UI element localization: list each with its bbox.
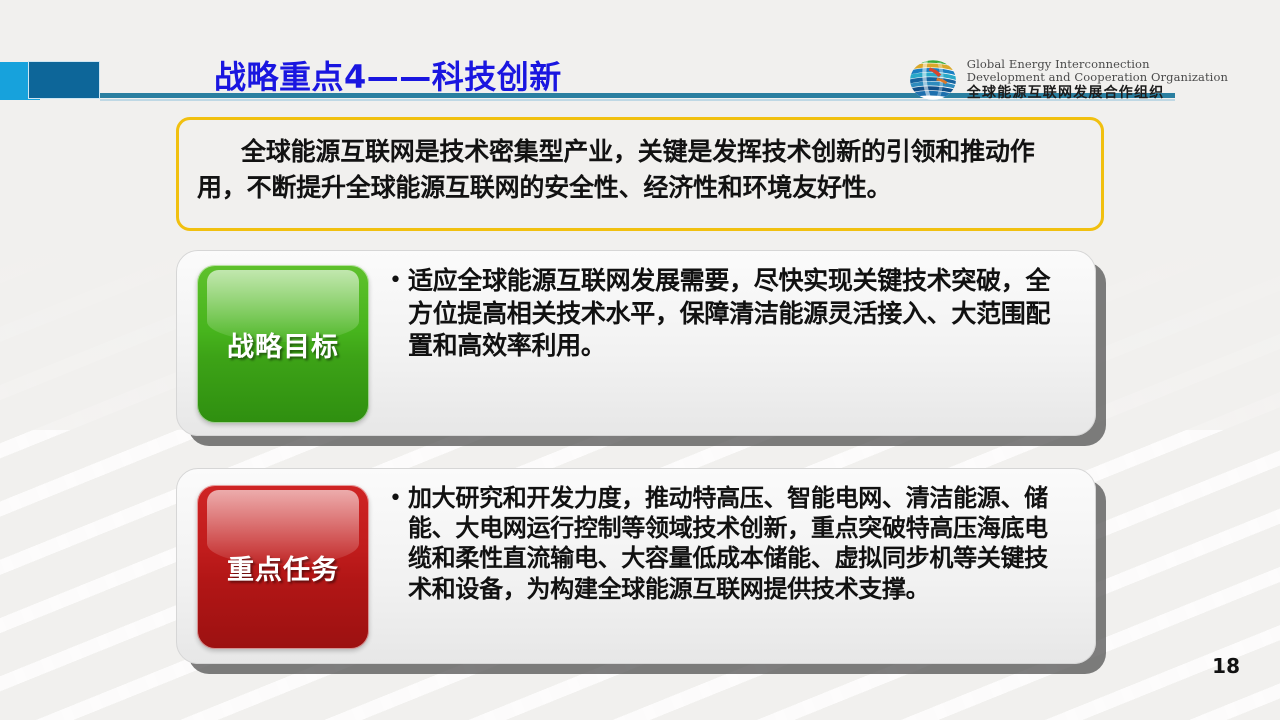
logo-line-cn: 全球能源互联网发展合作组织: [967, 86, 1228, 102]
globe-icon: [907, 54, 959, 106]
intro-callout-text: 全球能源互联网是技术密集型产业，关键是发挥技术创新的引领和推动作用，不断提升全球…: [197, 134, 1079, 205]
organization-logo: Global Energy Interconnection Developmen…: [907, 54, 1228, 106]
panel-strategic-goal-text: 适应全球能源互联网发展需要，尽快实现关键技术突破，全方位提高相关技术水平，保障清…: [408, 265, 1071, 363]
slide-canvas: 战略重点4——科技创新: [0, 0, 1280, 720]
slide-header: 战略重点4——科技创新: [0, 0, 1280, 112]
label-button-strategic-goal[interactable]: 战略目标: [197, 265, 369, 423]
decor-square-dark: [28, 61, 100, 99]
panel-key-tasks: 重点任务 • 加大研究和开发力度，推动特高压、智能电网、清洁能源、储能、大电网运…: [176, 468, 1096, 664]
label-button-key-tasks[interactable]: 重点任务: [197, 485, 369, 649]
bullet-icon: •: [389, 485, 402, 514]
panel-strategic-goal-body: • 适应全球能源互联网发展需要，尽快实现关键技术突破，全方位提高相关技术水平，保…: [369, 251, 1095, 373]
logo-text-block: Global Energy Interconnection Developmen…: [967, 58, 1228, 101]
panel-key-tasks-text: 加大研究和开发力度，推动特高压、智能电网、清洁能源、储能、大电网运行控制等领域技…: [408, 483, 1071, 604]
panel-key-tasks-body: • 加大研究和开发力度，推动特高压、智能电网、清洁能源、储能、大电网运行控制等领…: [369, 469, 1095, 614]
logo-line-en-2: Development and Cooperation Organization: [967, 71, 1228, 84]
page-title: 战略重点4——科技创新: [214, 52, 562, 98]
label-button-key-tasks-text: 重点任务: [227, 548, 339, 587]
label-button-strategic-goal-text: 战略目标: [227, 325, 339, 364]
logo-dash-icon: [893, 93, 909, 97]
intro-callout-box: 全球能源互联网是技术密集型产业，关键是发挥技术创新的引领和推动作用，不断提升全球…: [176, 117, 1104, 231]
bullet-icon: •: [389, 267, 402, 296]
panel-strategic-goal: 战略目标 • 适应全球能源互联网发展需要，尽快实现关键技术突破，全方位提高相关技…: [176, 250, 1096, 436]
page-number: 18: [1212, 654, 1240, 678]
